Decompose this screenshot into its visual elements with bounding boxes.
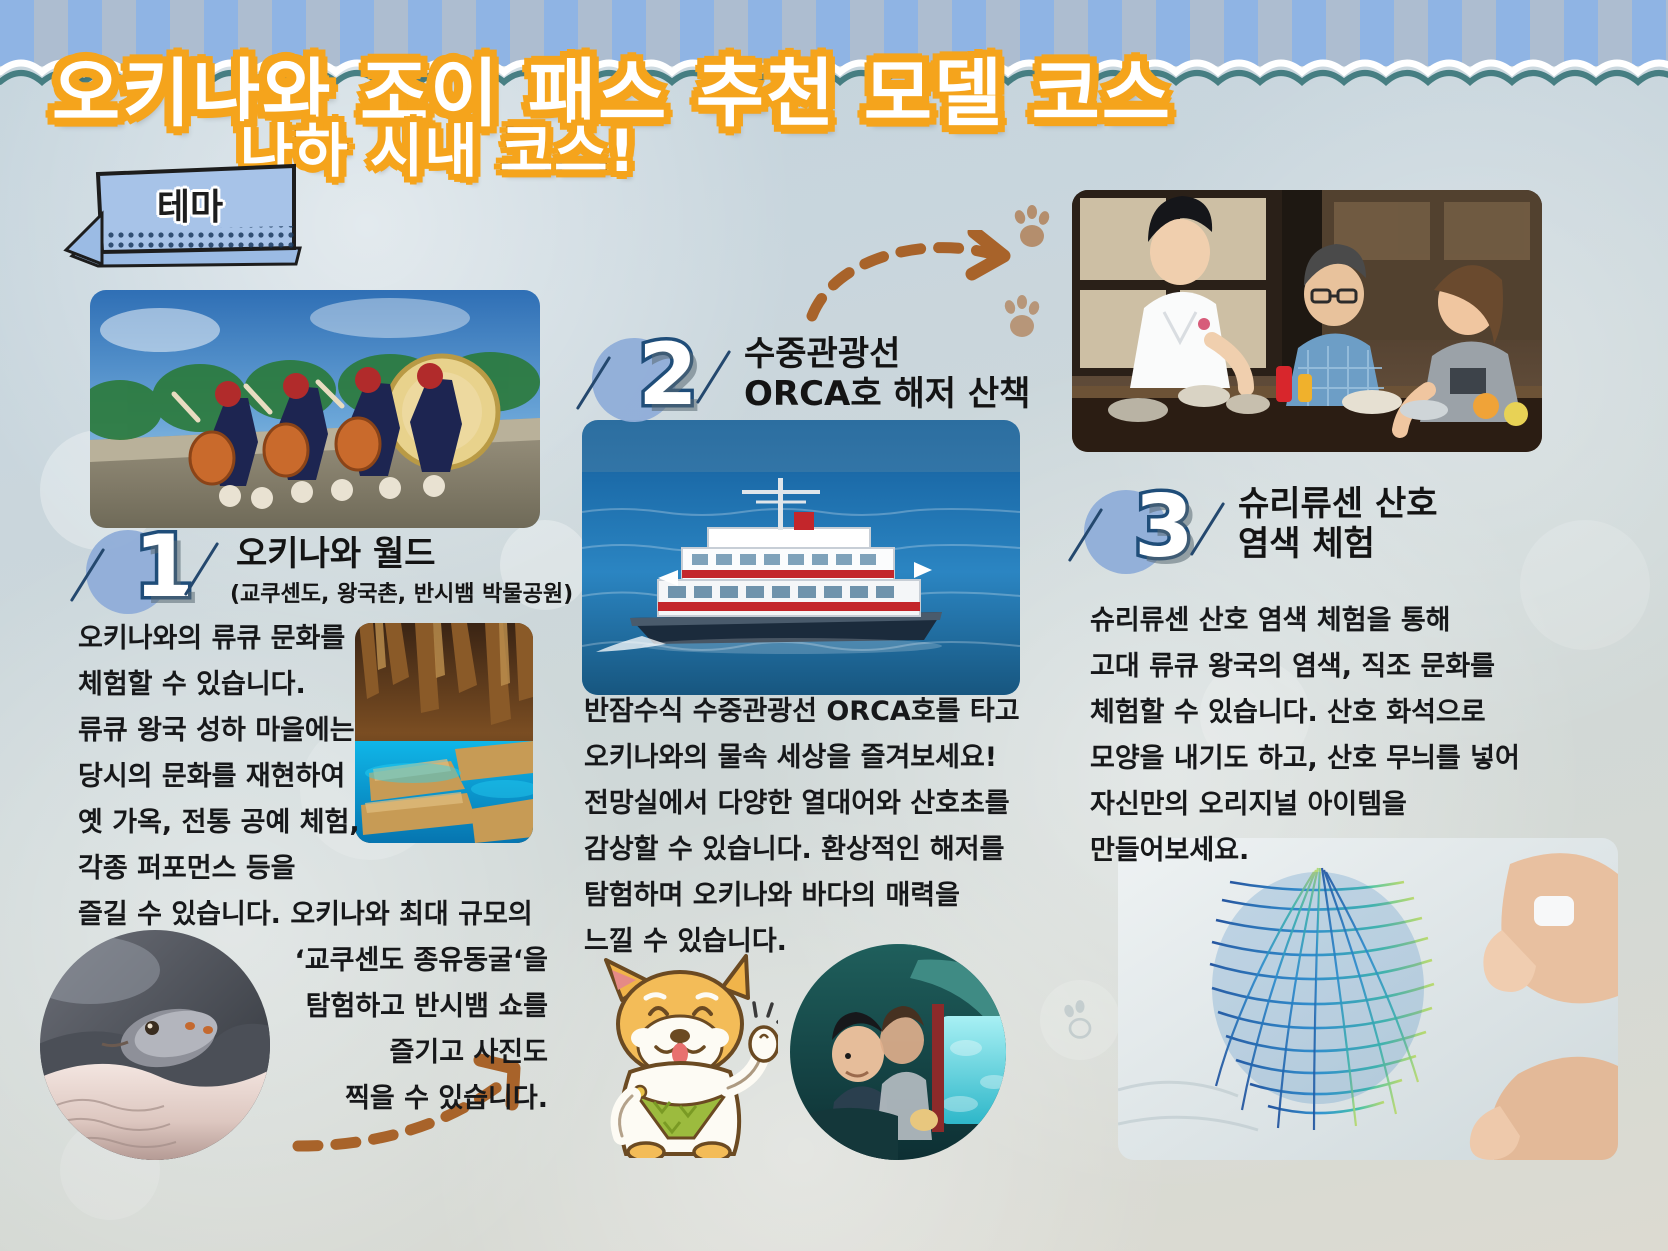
- eisa-drum-performance-photo: [90, 290, 540, 528]
- section-1-head: 1 오키나와 월드 (교쿠센도, 왕국촌, 반시뱀 박물공원): [78, 520, 598, 610]
- section-3-slash-right: [1190, 502, 1225, 556]
- section-3-title-line2: 염색 체험: [1238, 524, 1375, 564]
- section-1-body-line: 오키나와의 류큐 문화를: [78, 625, 345, 652]
- section-1-body-line: 찍을 수 있습니다.: [0, 1085, 548, 1112]
- section-3-body-line: 슈리류센 산호 염색 체험을 통해: [1090, 607, 1451, 634]
- section-1-body-line: 옛 가옥, 전통 공예 체험,: [78, 809, 360, 836]
- section-3-body-line: 체험할 수 있습니다. 산호 화석으로: [1090, 699, 1486, 726]
- section-3-body-line: 자신만의 오리지널 아이템을: [1090, 791, 1407, 818]
- section-2-body-line: 전망실에서 다양한 열대어와 산호초를: [584, 790, 1010, 817]
- section-1-body-line: 당시의 문화를 재현하여: [78, 763, 345, 790]
- section-1-number: 1: [134, 524, 194, 610]
- section-2-body-line: 감상할 수 있습니다. 환상적인 해저를: [584, 836, 1004, 863]
- section-3-body-line: 고대 류큐 왕국의 염색, 직조 문화를: [1090, 653, 1495, 680]
- section-2-body-line: 반잠수식 수중관광선 ORCA호를 타고: [584, 698, 1020, 725]
- shuri-ryusen-dye-workshop-photo: [1072, 190, 1542, 452]
- section-2-body-line: 탐험하며 오키나와 바다의 매력을: [584, 882, 960, 909]
- section-3-head: 3 슈리류센 산호 염색 체험: [1078, 466, 1558, 556]
- page-title: 오키나와 조이 패스 추천 모델 코스: [52, 56, 1252, 134]
- theme-badge-label: 테마: [130, 178, 250, 230]
- shiba-dog-mascot: [588, 946, 778, 1162]
- section-1-title: 오키나와 월드: [236, 534, 436, 574]
- section-1-body-line: 탐험하고 반시뱀 쇼를: [0, 993, 548, 1020]
- poster-title-block: 오키나와 조이 패스 추천 모델 코스: [52, 56, 1252, 134]
- section-2-slash-right: [696, 350, 731, 404]
- section-1-body-line: 류큐 왕국 성하 마을에는: [78, 717, 355, 744]
- section-2-body-line: 오키나와의 물속 세상을 즐겨보세요!: [584, 744, 997, 771]
- orca-boat-photo: [582, 420, 1020, 695]
- section-2-title-line1: 수중관광선: [744, 334, 900, 374]
- section-1-body-line: 즐기고 사진도: [0, 1039, 548, 1066]
- section-2-body-line: 느낄 수 있습니다.: [584, 928, 787, 955]
- orca-interior-viewing-photo: [790, 944, 1006, 1160]
- section-3-body-line: 모양을 내기도 하고, 산호 무늬를 넣어: [1090, 745, 1520, 772]
- section-3-body-line: 만들어보세요.: [1090, 837, 1249, 864]
- section-1-body-line: ‘교쿠센도 종유동굴‘을: [0, 947, 548, 974]
- section-1-subtitle: (교쿠센도, 왕국촌, 반시뱀 박물공원): [230, 576, 573, 608]
- section-1-body-line: 각종 퍼포먼스 등을: [78, 855, 296, 882]
- paw-print-icon: [1010, 205, 1054, 255]
- section-1-body-line: 즐길 수 있습니다. 오키나와 최대 규모의: [78, 901, 533, 928]
- section-3-number: 3: [1134, 484, 1194, 570]
- paw-print-icon: [1060, 1000, 1100, 1046]
- bokeh-decoration: [1040, 980, 1120, 1060]
- section-3-title-line1: 슈리류센 산호: [1238, 484, 1438, 524]
- section-2-title-line2: ORCA호 해저 산책: [744, 374, 1030, 414]
- section-2-number: 2: [638, 332, 698, 418]
- poster-root: 오키나와 조이 패스 추천 모델 코스 나하 시내 코스! 테마: [0, 0, 1668, 1251]
- coral-dyed-fabric-photo: [1118, 838, 1618, 1160]
- theme-badge: 테마: [58, 152, 308, 270]
- section-1-body-line: 체험할 수 있습니다.: [78, 671, 306, 698]
- section-2-head: 2 수중관광선 ORCA호 해저 산책: [586, 330, 1066, 420]
- gyokusendo-cave-photo: [355, 623, 533, 843]
